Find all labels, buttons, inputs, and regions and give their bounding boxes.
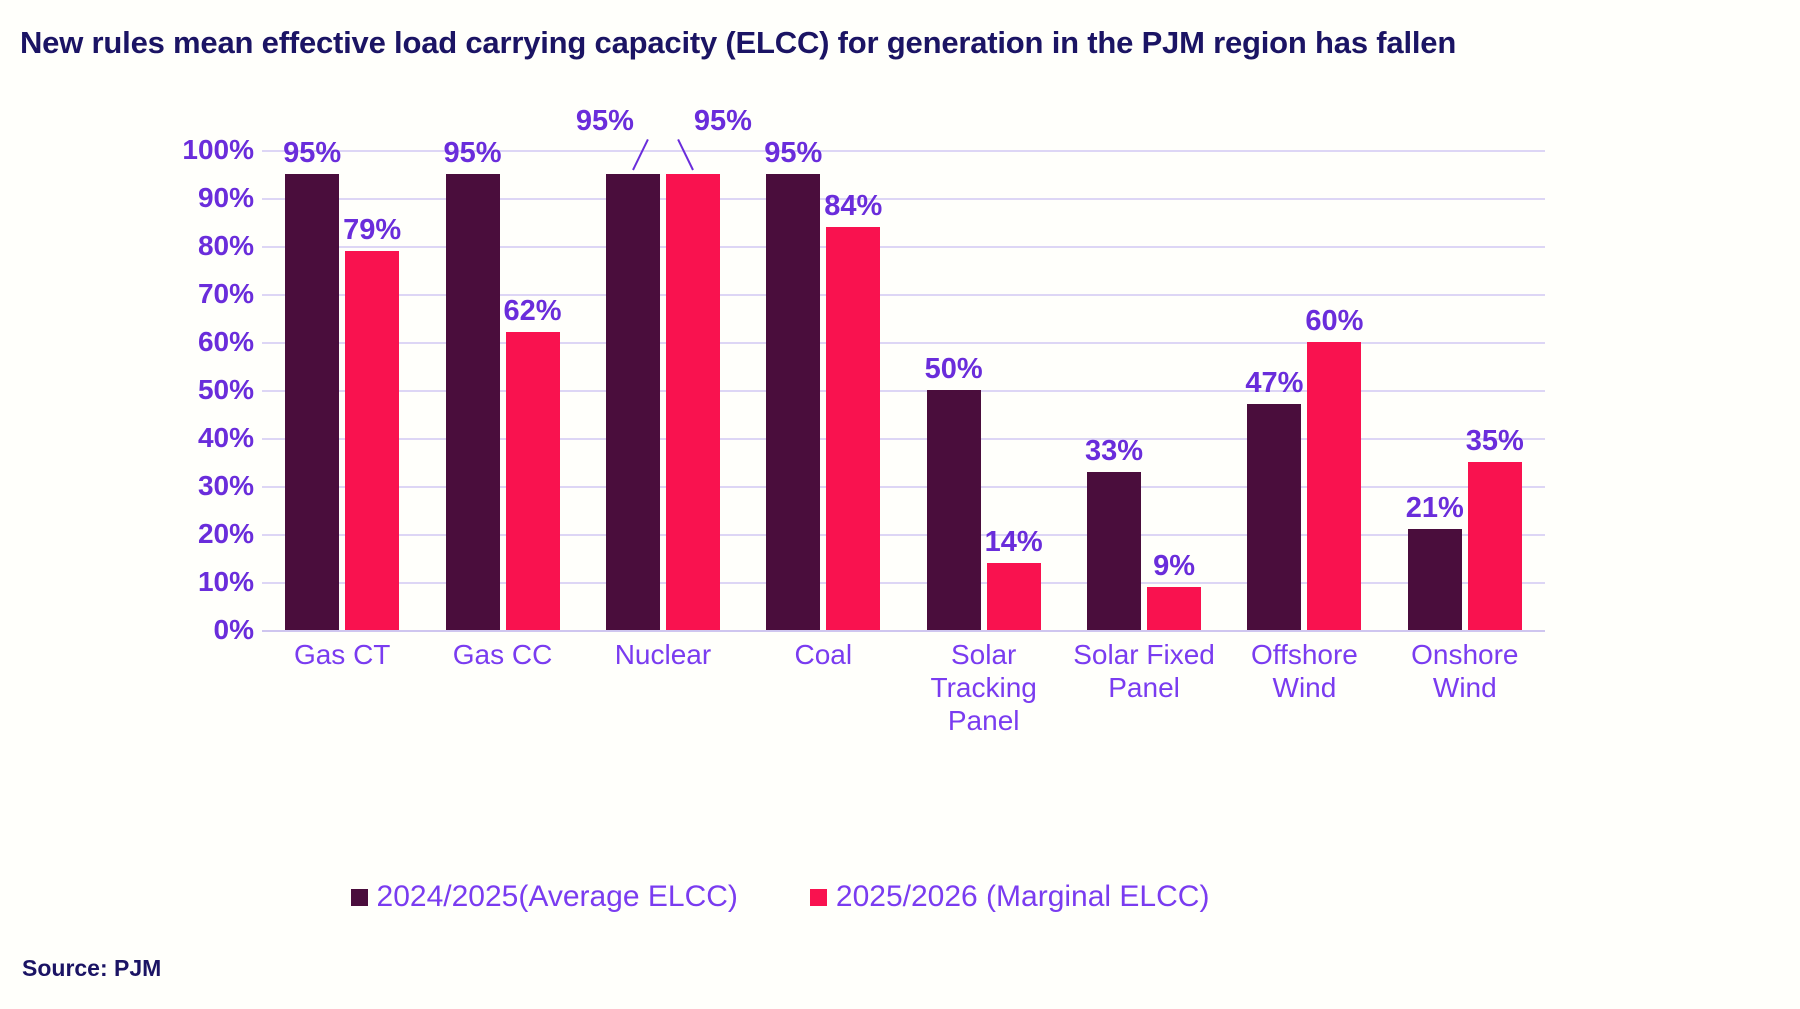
bar-value-label: 95% (444, 139, 502, 168)
chart-legend: 2024/2025(Average ELCC)2025/2026 (Margin… (0, 880, 1560, 914)
legend-swatch-icon (810, 889, 827, 906)
x-axis-category-label: Coal (743, 638, 903, 737)
bar-value-label: 33% (1085, 437, 1143, 466)
x-axis-category-label: Offshore Wind (1224, 638, 1384, 737)
y-axis-tick-label: 80% (198, 230, 254, 262)
x-axis-category-label: Gas CC (422, 638, 582, 737)
legend-label: 2025/2026 (Marginal ELCC) (836, 880, 1210, 914)
source-note: Source: PJM (22, 955, 161, 982)
legend-item[interactable]: 2024/2025(Average ELCC) (351, 880, 738, 914)
bar-value-label: 9% (1153, 552, 1195, 581)
bar[interactable]: 47% (1247, 404, 1301, 630)
bar-value-label: 62% (504, 297, 562, 326)
bar-value-label: 50% (925, 355, 983, 384)
bar[interactable]: 9% (1147, 587, 1201, 630)
bar-value-label: 95% (576, 107, 634, 136)
bar[interactable]: 33% (1087, 472, 1141, 630)
bar-group: 33%9% (1064, 150, 1224, 630)
y-axis-tick-label: 10% (198, 566, 254, 598)
y-axis-tick-label: 0% (214, 614, 254, 646)
legend-label: 2024/2025(Average ELCC) (377, 880, 738, 914)
gridline (262, 630, 1545, 632)
bar-group: 47%60% (1224, 150, 1384, 630)
bar[interactable]: 95% (766, 174, 820, 630)
bar-group: 95%62% (422, 150, 582, 630)
y-axis-tick-label: 30% (198, 470, 254, 502)
legend-swatch-icon (351, 889, 368, 906)
bar-value-label: 60% (1305, 307, 1363, 336)
bar-value-label: 21% (1406, 494, 1464, 523)
y-axis: 0%10%20%30%40%50%60%70%80%90%100% (150, 150, 260, 630)
y-axis-tick-label: 50% (198, 374, 254, 406)
label-leader-line (632, 139, 649, 170)
bar[interactable]: 95% (666, 174, 720, 630)
bar[interactable]: 62% (506, 332, 560, 630)
bar-value-label: 14% (985, 528, 1043, 557)
page-title: New rules mean effective load carrying c… (20, 22, 1640, 63)
y-axis-tick-label: 20% (198, 518, 254, 550)
bar-series-container: 95%79%95%62%95%95%95%84%50%14%33%9%47%60… (262, 150, 1545, 630)
bar[interactable]: 35% (1468, 462, 1522, 630)
y-axis-tick-label: 100% (182, 134, 254, 166)
x-axis-category-label: Solar Fixed Panel (1064, 638, 1224, 737)
x-axis-category-label: Nuclear (583, 638, 743, 737)
bar-group: 95%95% (583, 150, 743, 630)
bar-value-label: 79% (343, 216, 401, 245)
bar-value-label: 95% (764, 139, 822, 168)
y-axis-tick-label: 40% (198, 422, 254, 454)
bar[interactable]: 95% (446, 174, 500, 630)
x-axis-category-label: Gas CT (262, 638, 422, 737)
label-leader-line (677, 139, 694, 170)
bar[interactable]: 95% (285, 174, 339, 630)
bar-group: 50%14% (904, 150, 1064, 630)
x-axis-category-label: Onshore Wind (1385, 638, 1545, 737)
bar[interactable]: 50% (927, 390, 981, 630)
bar-value-label: 47% (1245, 369, 1303, 398)
legend-item[interactable]: 2025/2026 (Marginal ELCC) (810, 880, 1210, 914)
y-axis-tick-label: 90% (198, 182, 254, 214)
bar-value-label: 95% (694, 107, 752, 136)
bar-group: 95%79% (262, 150, 422, 630)
bar-value-label: 95% (283, 139, 341, 168)
bar[interactable]: 60% (1307, 342, 1361, 630)
bar-value-label: 35% (1466, 427, 1524, 456)
bar-value-label: 84% (824, 192, 882, 221)
bar-group: 21%35% (1385, 150, 1545, 630)
bar[interactable]: 84% (826, 227, 880, 630)
chart-plot-area: 0%10%20%30%40%50%60%70%80%90%100% 95%79%… (0, 150, 1800, 750)
bar[interactable]: 14% (987, 563, 1041, 630)
bar[interactable]: 95% (606, 174, 660, 630)
x-axis-categories: Gas CTGas CCNuclearCoalSolar Tracking Pa… (262, 638, 1545, 737)
bar[interactable]: 79% (345, 251, 399, 630)
y-axis-tick-label: 60% (198, 326, 254, 358)
bar[interactable]: 21% (1408, 529, 1462, 630)
bar-group: 95%84% (743, 150, 903, 630)
y-axis-tick-label: 70% (198, 278, 254, 310)
x-axis-category-label: Solar Tracking Panel (904, 638, 1064, 737)
